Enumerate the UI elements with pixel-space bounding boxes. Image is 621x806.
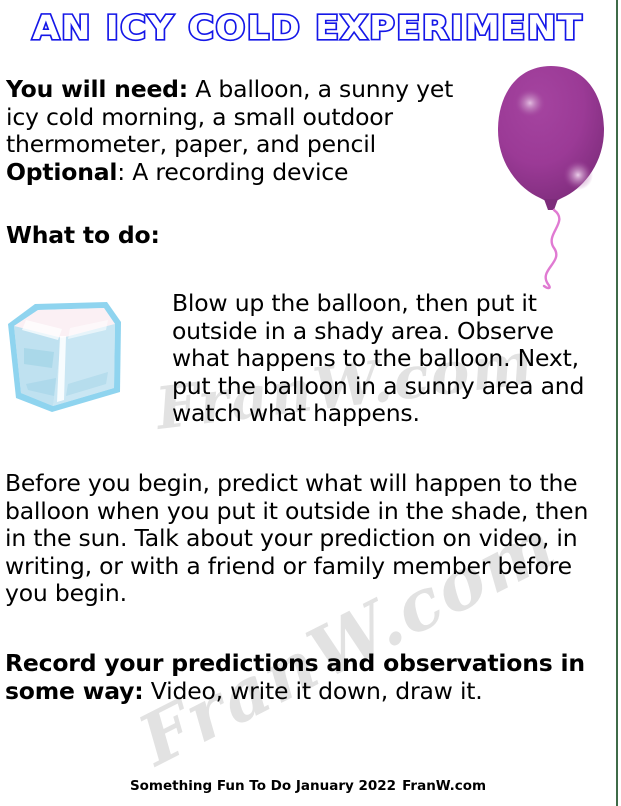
what-to-do-heading: What to do: [6, 222, 306, 250]
optional-text: : A recording device [117, 158, 348, 186]
balloon-icon [486, 58, 616, 290]
record-paragraph: Record your predictions and observations… [5, 650, 611, 705]
prediction-paragraph: Before you begin, predict what will happ… [5, 470, 611, 608]
worksheet-page: FranW.com FranW.com AN ICY COLD EXPERIME… [0, 0, 621, 806]
footer-series: Something Fun To Do January 2022 [130, 778, 396, 794]
materials-label: You will need: [6, 75, 188, 103]
page-title: AN ICY COLD EXPERIMENT [33, 8, 584, 47]
ice-cube-icon [2, 296, 126, 418]
step-one-paragraph: Blow up the balloon, then put it outside… [172, 290, 612, 428]
footer-site: FranW.com [402, 778, 486, 794]
footer: Something Fun To Do January 2022FranW.co… [0, 778, 616, 794]
page-title-wrap: AN ICY COLD EXPERIMENT [0, 8, 616, 47]
right-edge-rule [616, 0, 618, 806]
optional-label: Optional [6, 158, 117, 186]
record-text: Video, write it down, draw it. [144, 677, 483, 705]
materials-paragraph: You will need: A balloon, a sunny yet ic… [6, 76, 476, 186]
